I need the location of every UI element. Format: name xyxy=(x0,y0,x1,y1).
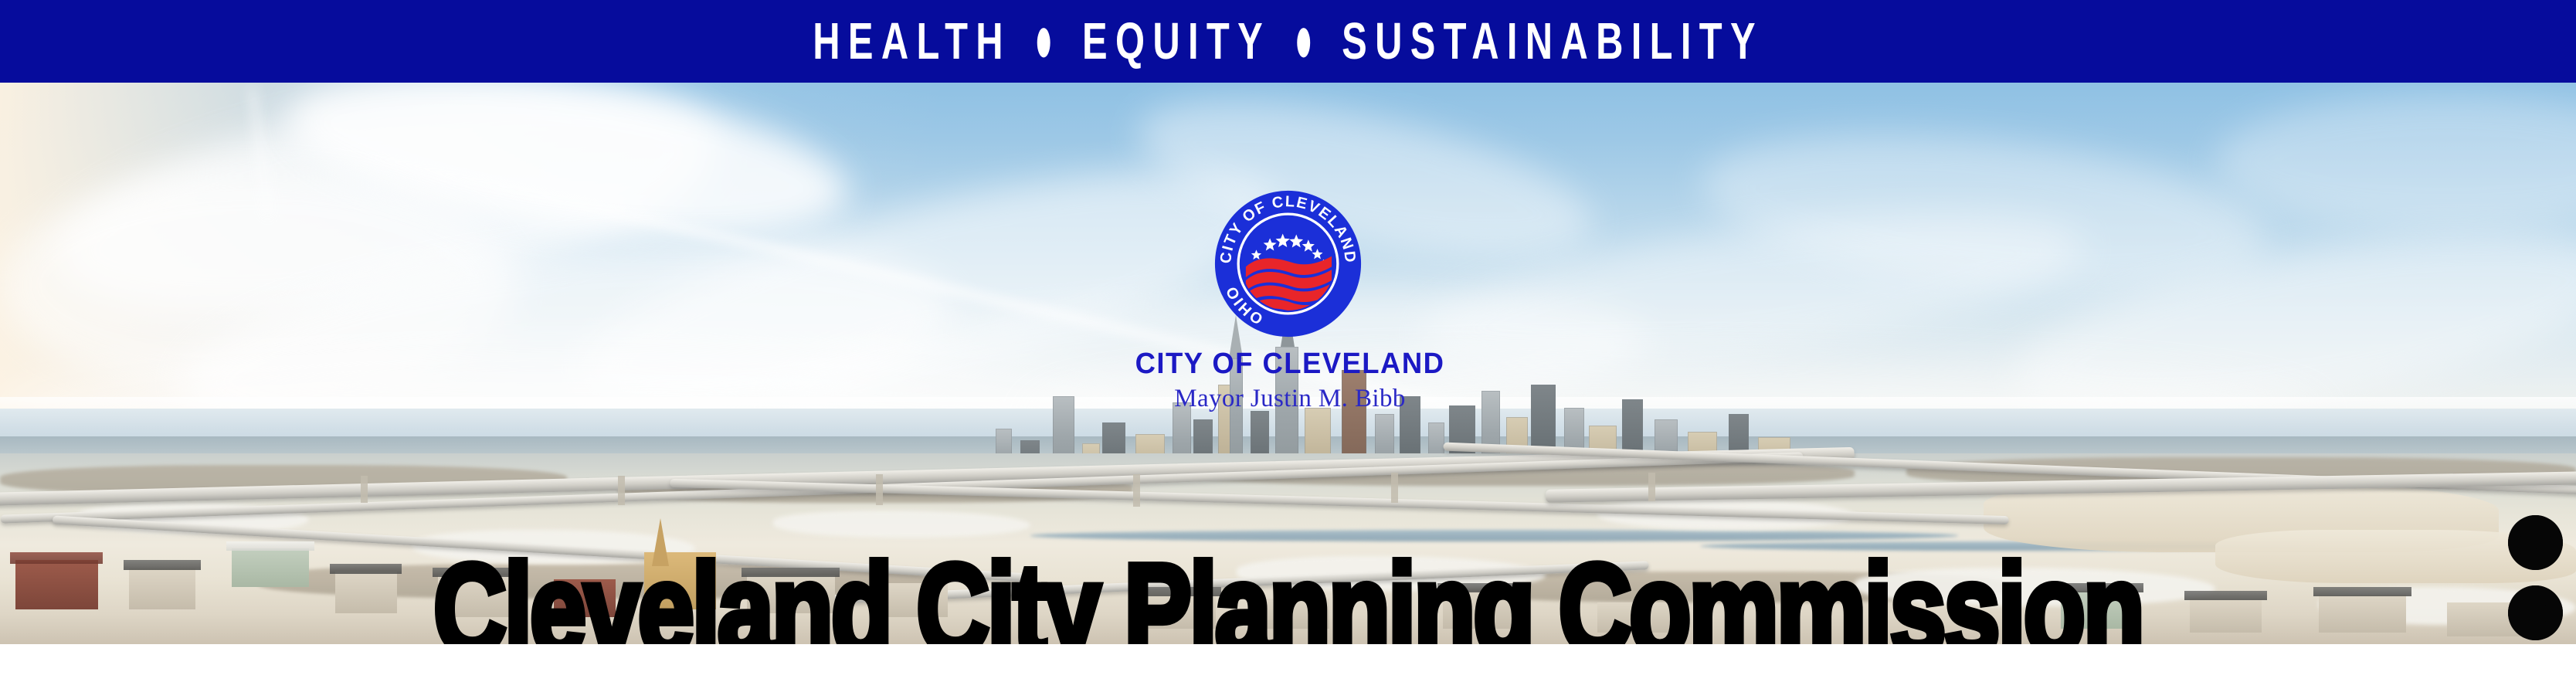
building xyxy=(747,575,834,613)
bridge-pier xyxy=(618,476,625,504)
hero-photo: CITY OF CLEVELAND OHIO xyxy=(0,83,2576,644)
ground-layer xyxy=(0,453,2576,644)
roof xyxy=(2313,587,2411,596)
building xyxy=(554,579,616,617)
bridge-pier xyxy=(361,476,368,503)
tagline-dot-icon xyxy=(1297,28,1310,57)
building xyxy=(2319,595,2406,633)
roof xyxy=(1437,583,1525,592)
roof xyxy=(1128,587,1221,596)
youtube-icon[interactable] xyxy=(2508,515,2563,570)
tagline-word-health: HEALTH xyxy=(813,15,1011,67)
church-spire xyxy=(652,518,669,566)
building xyxy=(1262,599,1329,629)
bridge-pier xyxy=(1648,473,1655,501)
planning-commission-banner: HEALTH EQUITY SUSTAINABILITY xyxy=(0,0,2576,682)
snow-patch xyxy=(773,511,1031,538)
social-links[interactable] xyxy=(2508,515,2563,644)
roof xyxy=(10,552,103,564)
roof xyxy=(2055,583,2143,592)
roof xyxy=(226,541,314,551)
snow-patch xyxy=(1855,568,2215,606)
city-seal: CITY OF CLEVELAND OHIO xyxy=(1213,188,1363,339)
bridge-pier xyxy=(1133,474,1140,507)
agency-name: CITY OF CLEVELAND xyxy=(993,349,1587,380)
building xyxy=(1443,591,1520,629)
building xyxy=(876,583,948,617)
agency-identity: CITY OF CLEVELAND Mayor Justin M. Bibb xyxy=(981,349,1599,412)
building xyxy=(335,572,397,613)
bridge-pier xyxy=(876,474,883,505)
tagline-word-sustainability: SUSTAINABILITY xyxy=(1342,15,1763,67)
bridge-pier xyxy=(1391,473,1398,504)
cuyahoga-river xyxy=(1030,530,1958,541)
building xyxy=(2061,591,2138,629)
roof xyxy=(330,564,402,573)
roof xyxy=(2184,591,2267,600)
building xyxy=(232,548,309,586)
building xyxy=(2190,599,2262,633)
building xyxy=(1133,595,1216,629)
tagline-dot-icon xyxy=(1037,28,1050,57)
building xyxy=(129,568,196,609)
tagline-text: HEALTH EQUITY SUSTAINABILITY xyxy=(813,15,1763,67)
building xyxy=(15,560,98,609)
roof xyxy=(742,568,840,577)
roof xyxy=(124,560,201,569)
building xyxy=(1597,602,1669,633)
instagram-icon[interactable] xyxy=(2508,585,2563,640)
bottom-white-margin xyxy=(0,644,2576,682)
roof xyxy=(433,568,520,577)
building xyxy=(438,575,515,617)
tagline-word-equity: EQUITY xyxy=(1082,15,1271,67)
tagline-bar: HEALTH EQUITY SUSTAINABILITY xyxy=(0,0,2576,83)
mayor-name: Mayor Justin M. Bibb xyxy=(981,385,1599,412)
